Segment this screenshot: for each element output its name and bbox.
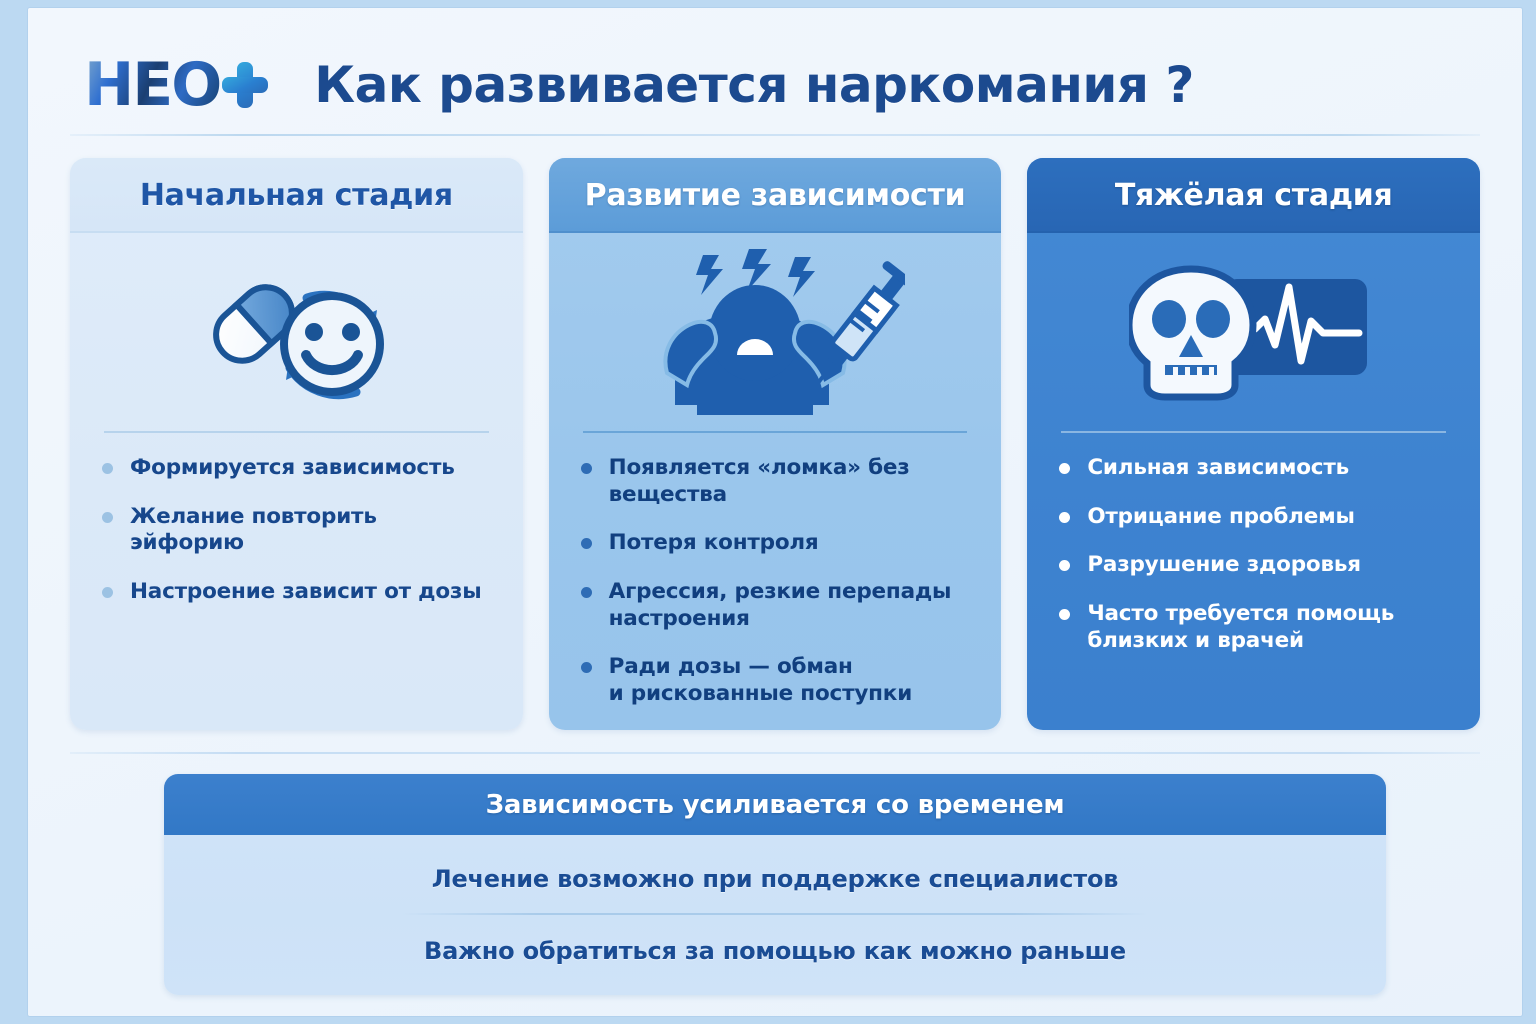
list-item: Формируется зависимость — [100, 455, 497, 482]
list-item: Часто требуется помощьблизких и врачей — [1057, 601, 1454, 654]
poster-header: НЕО Как развивается наркомания ? — [70, 34, 1480, 130]
page-title: Как развивается наркомания ? — [314, 56, 1194, 114]
list-item: Настроение зависит от дозы — [100, 579, 497, 606]
stage-card-initial: Начальная стадия — [70, 158, 523, 730]
infographic-poster: НЕО Как развивается наркомания ? Начальн… — [0, 0, 1536, 1024]
list-item: Сильная зависимость — [1057, 455, 1454, 482]
card-bullets-severe: Сильная зависимость Отрицание проблемы Р… — [1027, 455, 1480, 730]
card-title-development: Развитие зависимости — [549, 158, 1002, 231]
stressed-person-syringe-icon — [549, 233, 1002, 431]
card-title-initial: Начальная стадия — [70, 158, 523, 231]
list-item: Отрицание проблемы — [1057, 504, 1454, 531]
brand-logo-text: НЕО — [84, 55, 220, 115]
list-item: Разрушение здоровья — [1057, 552, 1454, 579]
card-list-divider — [104, 431, 489, 433]
plus-icon — [222, 62, 268, 108]
summary-body: Лечение возможно при поддержке специалис… — [164, 835, 1386, 995]
summary-line-2: Важно обратиться за помощью как можно ра… — [164, 915, 1386, 985]
stage-card-development: Развитие зависимости — [549, 158, 1002, 730]
list-item: Появляется «ломка» без вещества — [579, 455, 976, 508]
list-item: Потеря контроля — [579, 530, 976, 557]
header-divider — [70, 134, 1480, 136]
card-list-divider — [1061, 431, 1446, 433]
stage-card-severe: Тяжёлая стадия — [1027, 158, 1480, 730]
card-list-divider — [583, 431, 968, 433]
list-item: Агрессия, резкие перепады настроения — [579, 579, 976, 632]
skull-ecg-icon — [1027, 233, 1480, 431]
summary-line-1: Лечение возможно при поддержке специалис… — [164, 843, 1386, 913]
card-bullets-development: Появляется «ломка» без вещества Потеря к… — [549, 455, 1002, 730]
pill-smiley-cycle-icon — [70, 233, 523, 431]
footer-divider — [70, 752, 1480, 754]
brand-logo: НЕО — [84, 55, 268, 115]
list-item: Ради дозы — обмани рискованные поступки — [579, 654, 976, 707]
poster-sheet: НЕО Как развивается наркомания ? Начальн… — [28, 8, 1522, 1016]
summary-headline: Зависимость усиливается со временем — [164, 774, 1386, 835]
stage-cards: Начальная стадия — [70, 158, 1480, 730]
summary-panel: Зависимость усиливается со временем Лече… — [164, 774, 1386, 995]
list-item: Желание повторить эйфорию — [100, 504, 497, 557]
card-bullets-initial: Формируется зависимость Желание повторит… — [70, 455, 523, 730]
card-title-severe: Тяжёлая стадия — [1027, 158, 1480, 231]
